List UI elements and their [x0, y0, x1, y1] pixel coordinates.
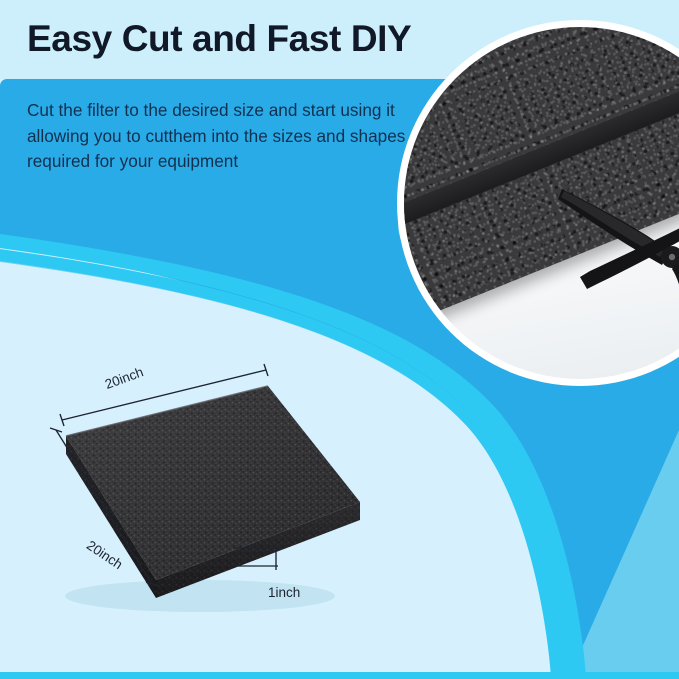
bottom-accent-rule — [0, 672, 679, 679]
description-text: Cut the filter to the desired size and s… — [27, 98, 457, 175]
scissors-icon — [554, 147, 679, 357]
product-infographic: Easy Cut and Fast DIY Cut the filter to … — [0, 0, 679, 679]
cutting-photo — [404, 27, 679, 379]
cutting-photo-inner — [404, 27, 679, 379]
dimension-label-thickness: 1inch — [268, 585, 300, 600]
foam-product-illustration — [0, 352, 360, 642]
page-title: Easy Cut and Fast DIY — [27, 18, 411, 60]
